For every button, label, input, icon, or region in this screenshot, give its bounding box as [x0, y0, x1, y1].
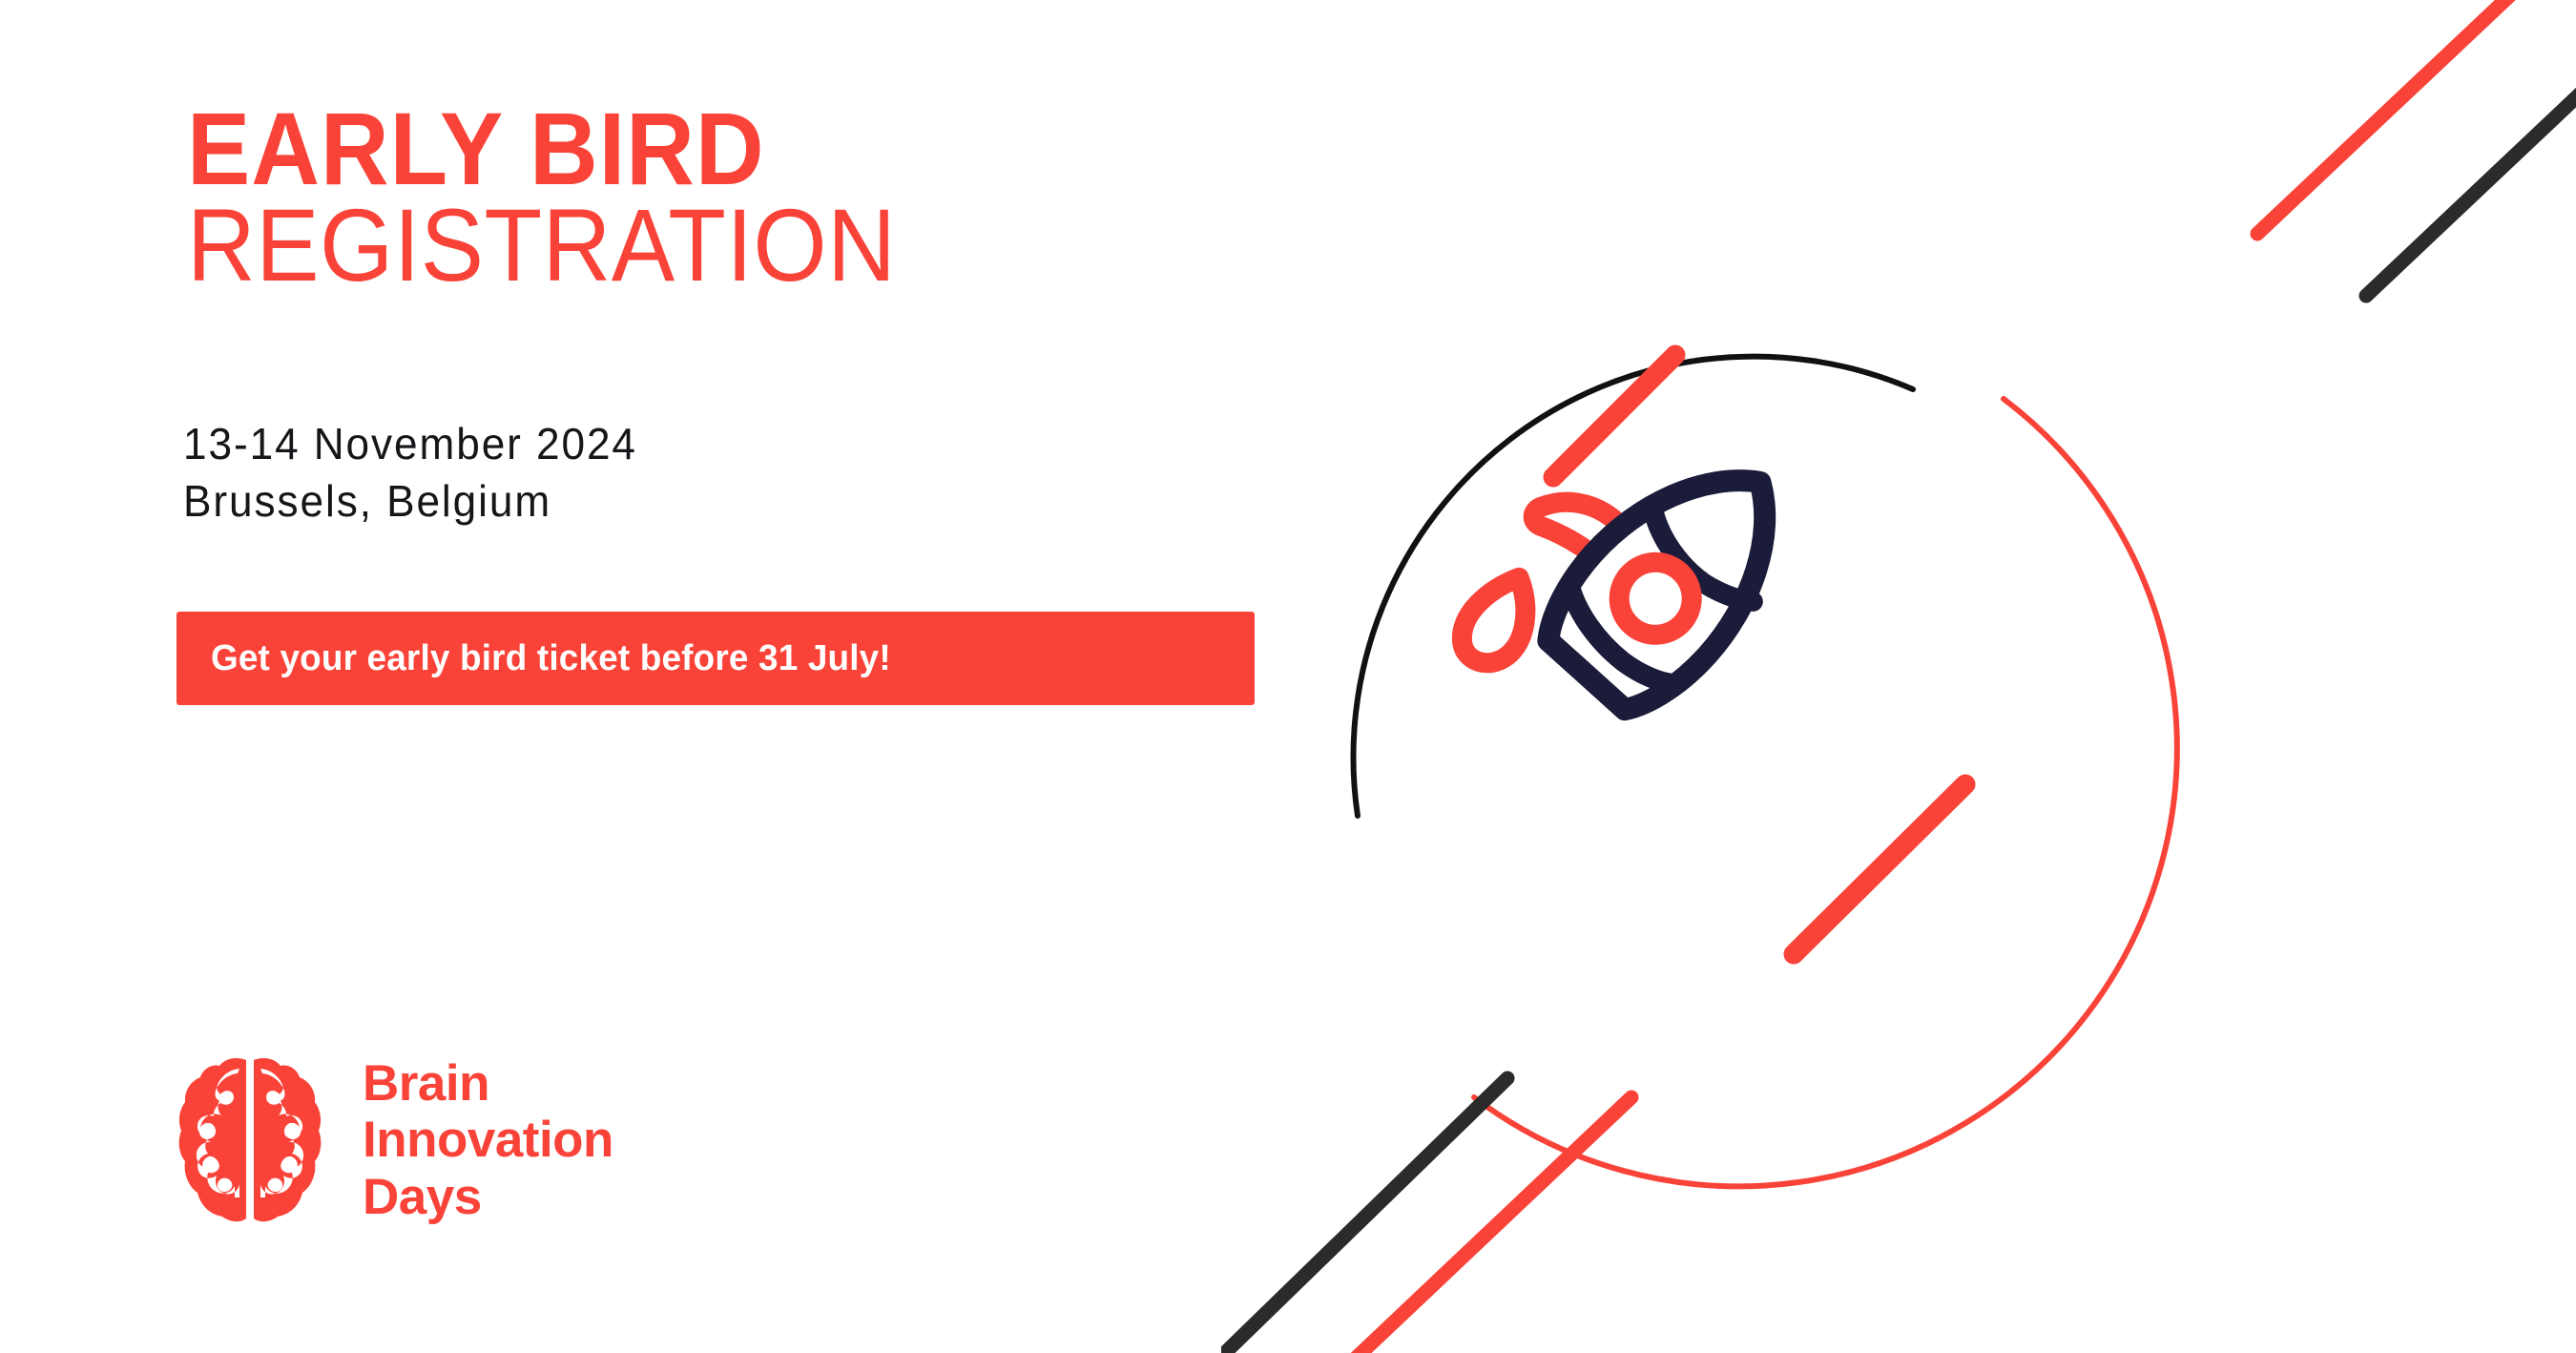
promo-banner: EARLY BIRD REGISTRATION 13-14 November 2…: [0, 0, 2576, 1353]
page-title: EARLY BIRD REGISTRATION: [187, 103, 958, 290]
content-column: EARLY BIRD REGISTRATION 13-14 November 2…: [0, 0, 1355, 1353]
corner-line-top-right-red: [2257, 0, 2576, 234]
wordmark: Brain Innovation Days: [363, 1055, 613, 1225]
speed-line-lower-right: [1794, 784, 1965, 954]
brand-logo: Brain Innovation Days: [177, 1054, 613, 1226]
headline-line-secondary: REGISTRATION: [187, 199, 896, 290]
rocket-illustration: [1221, 0, 2576, 1353]
cta-label: Get your early bird ticket before 31 Jul…: [211, 638, 891, 679]
event-details: 13-14 November 2024 Brussels, Belgium: [183, 416, 656, 531]
headline-line-primary: EARLY BIRD: [187, 103, 896, 194]
wordmark-line-1: Brain: [363, 1055, 613, 1112]
corner-line-bottom-left-black: [1221, 1078, 1507, 1353]
wordmark-line-3: Days: [363, 1169, 613, 1225]
wordmark-line-2: Innovation: [363, 1112, 613, 1168]
red-arc: [1474, 399, 2177, 1186]
rocket-flame: [1453, 565, 1543, 674]
event-location: Brussels, Belgium: [183, 473, 637, 531]
event-dates: 13-14 November 2024: [183, 416, 637, 473]
corner-line-top-right-black: [2366, 52, 2576, 296]
speed-line-upper-left: [1553, 355, 1675, 477]
cta-banner[interactable]: Get your early bird ticket before 31 Jul…: [177, 612, 1255, 705]
brain-icon: [177, 1054, 322, 1226]
